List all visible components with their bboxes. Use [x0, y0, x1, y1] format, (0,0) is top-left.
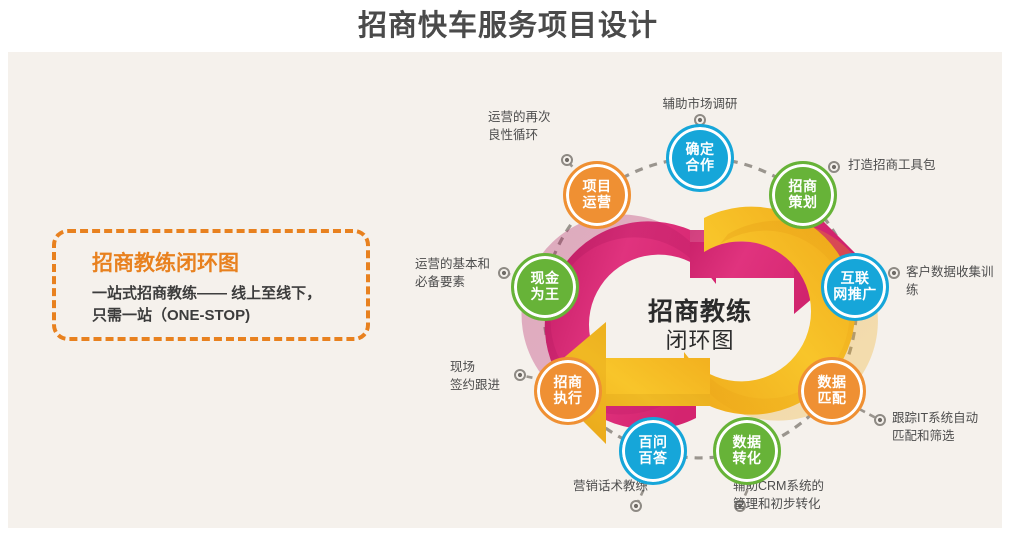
intro-card-line-2: 只需一站（ONE-STOP) [92, 305, 356, 327]
node-label-line-2: 百答 [639, 451, 668, 467]
node-label-line-1: 互联 [841, 271, 870, 287]
node-label-line-2: 为王 [531, 287, 560, 303]
page-title: 招商快车服务项目设计 [358, 12, 658, 41]
node-label-line-1: 数据 [818, 375, 847, 391]
node-label-line-1: 招商 [789, 179, 818, 195]
node-queding-hezuo[interactable]: 确定 合作 [666, 124, 734, 192]
node-label-line-2: 匹配 [818, 391, 847, 407]
node-baiwen-baida[interactable]: 百问 百答 [619, 417, 687, 485]
callout-liangxing-xunhuan: 运营的再次 良性循环 [488, 109, 551, 145]
node-label-line-1: 确定 [686, 142, 715, 158]
node-label-line-1: 数据 [733, 435, 762, 451]
intro-card: 招商教练闭环图 一站式招商教练—— 线上至线下， 只需一站（ONE-STOP) [52, 229, 370, 341]
node-zhaoshang-zhixing[interactable]: 招商 执行 [534, 357, 602, 425]
node-shuju-zhuanhua[interactable]: 数据 转化 [713, 417, 781, 485]
intro-card-heading: 招商教练闭环图 [92, 251, 356, 276]
content-panel: 招商教练闭环图 一站式招商教练—— 线上至线下， 只需一站（ONE-STOP) [8, 52, 1002, 528]
intro-card-line-1: 一站式招商教练—— 线上至线下， [92, 283, 356, 305]
node-shuju-pipei[interactable]: 数据 匹配 [798, 357, 866, 425]
node-label-line-2: 转化 [733, 451, 762, 467]
node-label-line-1: 招商 [554, 375, 583, 391]
node-label-line-2: 运营 [583, 195, 612, 211]
intro-card-text-group: 招商教练闭环图 一站式招商教练—— 线上至线下， 只需一站（ONE-STOP) [92, 251, 356, 327]
node-label-line-2: 策划 [789, 195, 818, 211]
node-xianjin-weiwang[interactable]: 现金 为王 [511, 253, 579, 321]
callout-yunying-yaosu: 运营的基本和 必备要素 [415, 256, 490, 292]
title-bar: 招商快车服务项目设计 [0, 0, 1016, 52]
closed-loop-diagram: 招商教练 闭环图 确定 合作 招商 策划 互联 网推广 数据 匹配 数据 转化 … [398, 52, 1002, 528]
node-hulianwang-tuiguang[interactable]: 互联 网推广 [821, 253, 889, 321]
node-label-line-1: 百问 [639, 435, 668, 451]
callout-xianchang-qianyue: 现场 签约跟进 [450, 359, 500, 395]
callout-kehu-shuju: 客户数据收集训练 [906, 264, 1002, 300]
callout-shichang-diaoyan: 辅助市场调研 [650, 96, 750, 114]
node-label-line-1: 现金 [531, 271, 560, 287]
callout-gongjubao: 打造招商工具包 [848, 157, 936, 175]
callout-it-xitong: 跟踪IT系统自动 匹配和筛选 [892, 410, 978, 446]
node-label-line-2: 网推广 [833, 287, 877, 303]
node-label-line-2: 执行 [554, 391, 583, 407]
node-zhaoshang-cehua[interactable]: 招商 策划 [769, 161, 837, 229]
node-label-line-1: 项目 [583, 179, 612, 195]
node-xiangmu-yunying[interactable]: 项目 运营 [563, 161, 631, 229]
node-label-line-2: 合作 [686, 158, 715, 174]
